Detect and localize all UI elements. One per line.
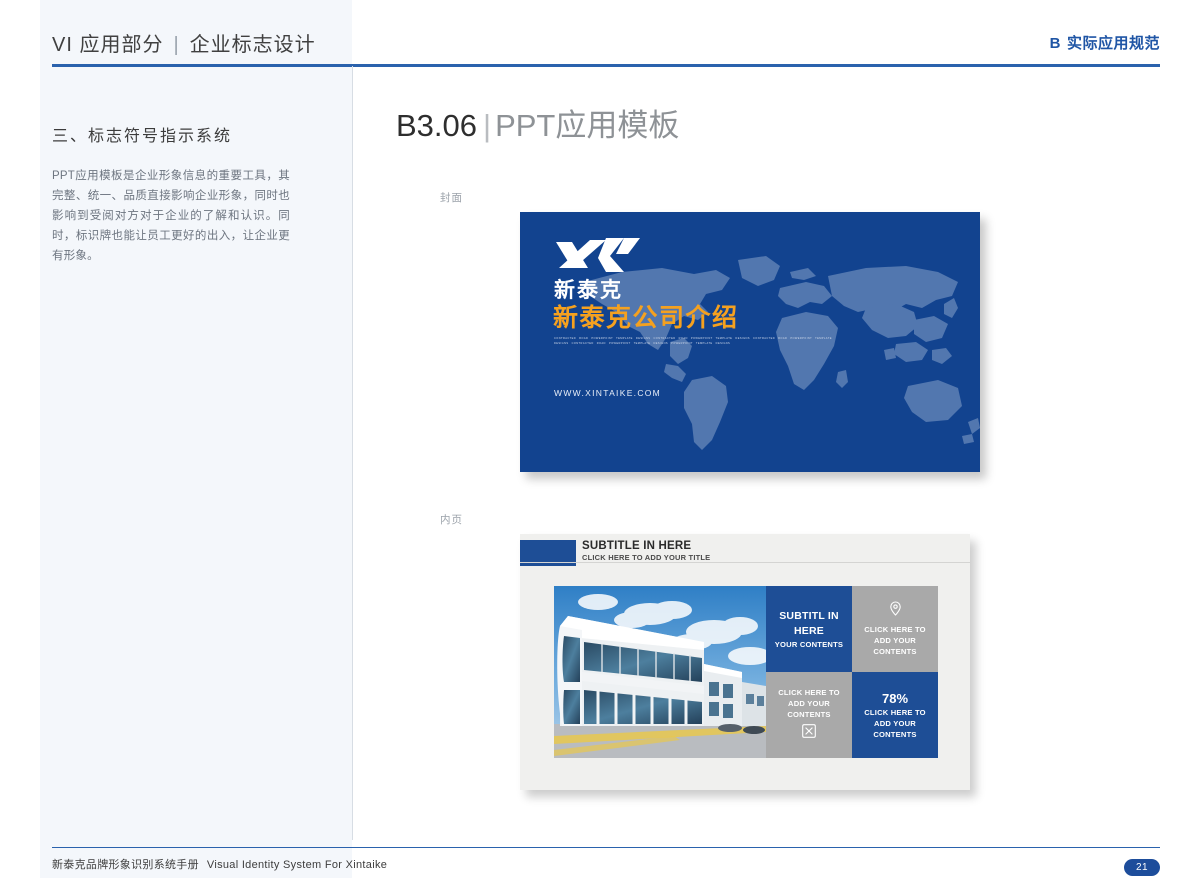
page-title-text: PPT应用模板 bbox=[495, 108, 679, 143]
inner-slide-title: SUBTITLE IN HERE bbox=[582, 539, 710, 553]
figure-label-inner: 内页 bbox=[440, 512, 463, 527]
header-chapter-code: B bbox=[1050, 35, 1061, 52]
page-left-margin bbox=[0, 0, 40, 896]
cover-slide-title: 新泰克公司介绍 bbox=[553, 298, 739, 334]
footer-divider-rule bbox=[52, 847, 1160, 849]
page-title-bar: | bbox=[477, 108, 495, 143]
location-pin-icon bbox=[889, 601, 902, 621]
sidebar-section-title: 三、标志符号指示系统 bbox=[52, 122, 322, 146]
footer-caption-en: Visual Identity System For Xintaike bbox=[207, 859, 387, 871]
content-tiles: SUBTITL IN HERE YOUR CONTENTS CLICK HERE… bbox=[766, 586, 938, 758]
header-breadcrumb: VI 应用部分|企业标志设计 bbox=[52, 28, 316, 57]
figure-label-cover: 封面 bbox=[440, 190, 463, 205]
tile-subtext: CLICK HERE TO ADD YOUR CONTENTS bbox=[772, 687, 846, 720]
cover-slide-micro-text: CONTRACTED ROAD POWERPOINT TEMPLATE DESI… bbox=[554, 336, 844, 347]
tile-subtitle-blue[interactable]: SUBTITL IN HERE YOUR CONTENTS bbox=[766, 586, 852, 672]
footer-caption: 新泰克品牌形象识别系统手册Visual Identity System For … bbox=[52, 856, 387, 872]
xtk-logo: 新泰克 bbox=[554, 234, 684, 302]
header-subject-label: 企业标志设计 bbox=[190, 34, 316, 56]
inner-slide-header-text: SUBTITLE IN HERE CLICK HERE TO ADD YOUR … bbox=[582, 539, 710, 563]
header-section-label: VI 应用部分 bbox=[52, 34, 163, 56]
tile-subtext: CLICK HERE TO ADD YOUR CONTENTS bbox=[858, 707, 932, 740]
header-chapter-label: 实际应用规范 bbox=[1067, 35, 1160, 52]
page-title-code: B3.06 bbox=[396, 108, 477, 143]
resize-box-icon bbox=[802, 724, 816, 743]
tile-location-gray[interactable]: CLICK HERE TO ADD YOUR CONTENTS bbox=[852, 586, 938, 672]
tile-percent-blue[interactable]: 78% CLICK HERE TO ADD YOUR CONTENTS bbox=[852, 672, 938, 758]
tile-heading: SUBTITL IN HERE bbox=[772, 609, 846, 639]
sidebar-description: PPT应用模板是企业形象信息的重要工具，其完整、统一、品质直接影响企业形象，同时… bbox=[52, 166, 290, 266]
xtk-logo-mark-icon bbox=[554, 234, 642, 276]
cover-slide-url: WWW.XINTAIKE.COM bbox=[554, 388, 661, 398]
tile-resize-gray[interactable]: CLICK HERE TO ADD YOUR CONTENTS bbox=[766, 672, 852, 758]
office-building-photo bbox=[554, 586, 766, 758]
tile-percentage: 78% bbox=[882, 690, 908, 707]
footer-caption-cn: 新泰克品牌形象识别系统手册 bbox=[52, 859, 199, 871]
header-divider-rule bbox=[52, 64, 1160, 67]
page-title: B3.06|PPT应用模板 bbox=[396, 100, 679, 145]
tile-subtext: YOUR CONTENTS bbox=[775, 639, 843, 650]
header-chapter: B实际应用规范 bbox=[1050, 32, 1160, 53]
page-number-badge: 21 bbox=[1124, 859, 1160, 876]
inner-slide-body: SUBTITL IN HERE YOUR CONTENTS CLICK HERE… bbox=[554, 586, 938, 758]
page-bottom-margin bbox=[0, 878, 1200, 896]
inner-slide-header-rule bbox=[520, 562, 970, 563]
ppt-inner-slide: SUBTITLE IN HERE CLICK HERE TO ADD YOUR … bbox=[520, 534, 970, 790]
ppt-cover-slide: 新泰克 新泰克公司介绍 CONTRACTED ROAD POWERPOINT T… bbox=[520, 212, 980, 472]
header-separator: | bbox=[163, 34, 189, 56]
column-divider bbox=[352, 66, 353, 840]
manual-page: VI 应用部分|企业标志设计 B实际应用规范 三、标志符号指示系统 PPT应用模… bbox=[0, 0, 1200, 896]
tile-subtext: CLICK HERE TO ADD YOUR CONTENTS bbox=[858, 624, 932, 657]
